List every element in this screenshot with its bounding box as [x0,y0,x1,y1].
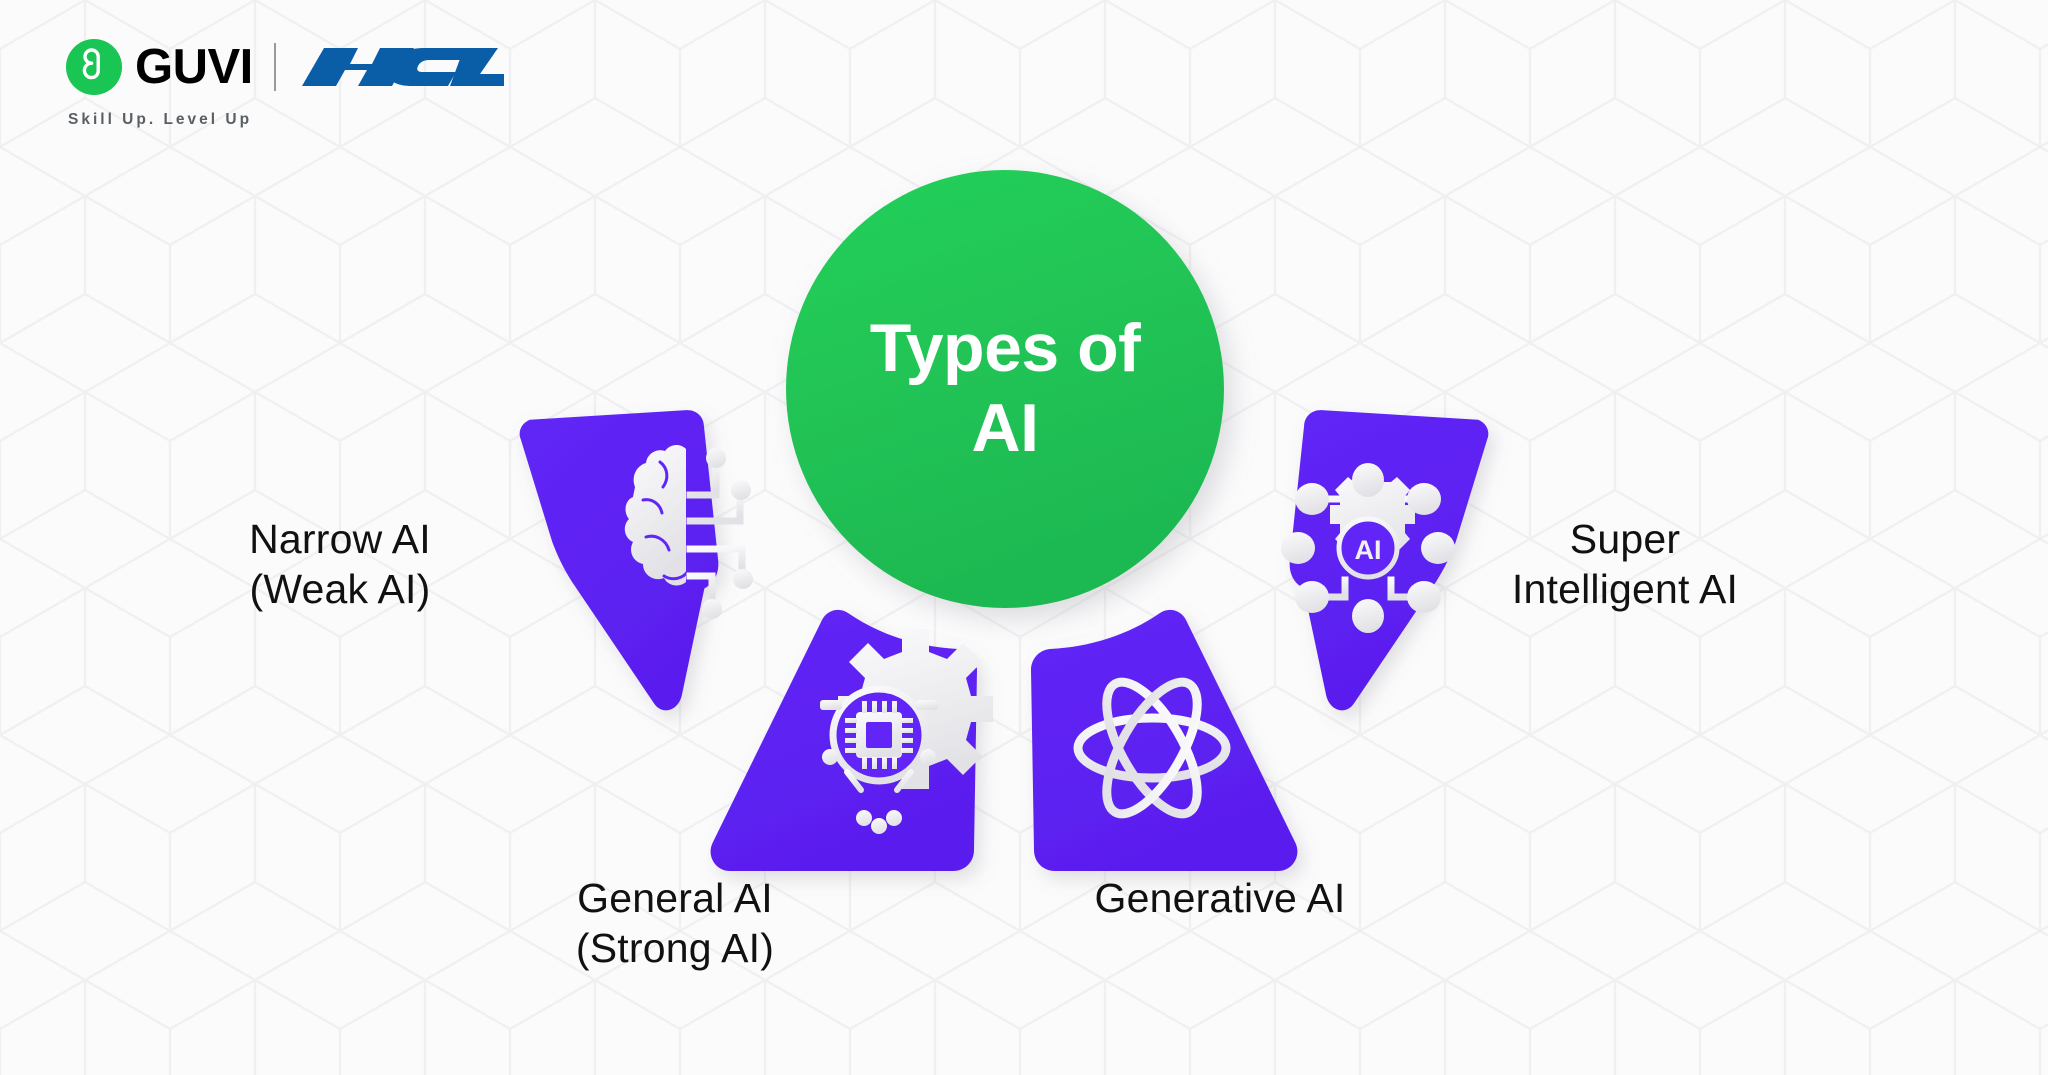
petal-generative-ai[interactable] [1031,610,1297,871]
logo-row: GUVI [66,36,504,98]
guvi-logo-icon [66,39,122,95]
center-circle[interactable] [786,170,1224,608]
hcl-logo [298,42,504,92]
label-general-ai: General AI (Strong AI) [500,873,850,973]
ai-network-gear-icon: AI [1281,463,1455,633]
slide-canvas: GUVI Skill Up. Level Up [0,0,2048,1075]
label-super-intelligent-ai: Super Intelligent AI [1430,514,1820,614]
label-narrow-ai: Narrow AI (Weak AI) [170,514,510,614]
logo-divider [274,43,276,91]
brand-tagline: Skill Up. Level Up [68,111,252,129]
ai-network-gear-label: AI [1355,535,1382,565]
label-generative-ai: Generative AI [1000,873,1440,923]
guvi-wordmark: GUVI [135,43,253,92]
brand-logo-bar: GUVI Skill Up. Level Up [66,36,504,129]
petal-narrow-ai[interactable] [518,393,748,726]
